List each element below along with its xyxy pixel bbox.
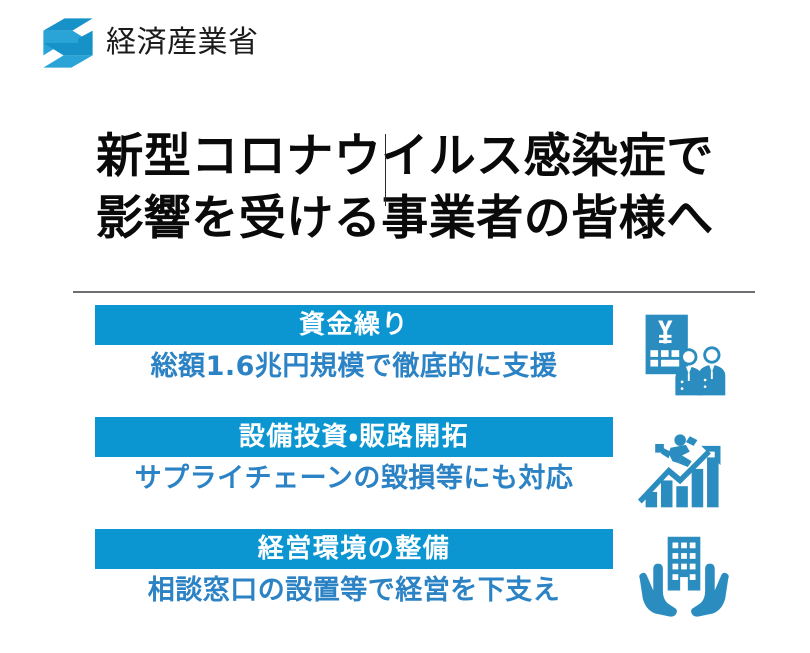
text-cursor-caret	[385, 134, 386, 206]
horizontal-divider	[73, 291, 755, 293]
meti-hexagon-logo-icon	[40, 15, 96, 71]
section-bar-label: 資金繰り	[299, 312, 409, 338]
section-funding: 資金繰り 総額1.6兆円規模で徹底的に支援	[0, 305, 810, 417]
section-subtitle: サプライチェーンの毀損等にも対応	[95, 463, 613, 495]
section-environment: 経営環境の整備 相談窓口の設置等で経営を下支え	[0, 529, 810, 641]
section-bar-label: 設備投資・販路開拓	[239, 424, 469, 450]
meti-logo-header: 経済産業省	[40, 12, 259, 74]
section-subtitle: 総額1.6兆円規模で徹底的に支援	[95, 351, 613, 383]
page-title: 新型コロナウイルス感染症で 影響を受ける事業者の皆様へ	[0, 126, 810, 250]
ministry-name: 経済産業省	[106, 28, 259, 58]
growth-chart-running-person-icon	[636, 419, 732, 515]
yen-ledger-businesspeople-icon	[636, 307, 732, 403]
section-bar-funding: 資金繰り	[95, 305, 613, 345]
title-line-2: 影響を受ける事業者の皆様へ	[0, 188, 810, 250]
section-bar-environment: 経営環境の整備	[95, 529, 613, 569]
section-investment: 設備投資・販路開拓 サプライチェーンの毀損等にも対応	[0, 417, 810, 529]
title-line-1: 新型コロナウイルス感染症で	[0, 126, 810, 188]
hands-holding-building-icon	[636, 531, 732, 627]
section-bar-label: 経営環境の整備	[258, 536, 451, 562]
section-bar-investment: 設備投資・販路開拓	[95, 417, 613, 457]
section-list: 資金繰り 総額1.6兆円規模で徹底的に支援	[0, 305, 810, 641]
section-subtitle: 相談窓口の設置等で経営を下支え	[95, 575, 613, 607]
